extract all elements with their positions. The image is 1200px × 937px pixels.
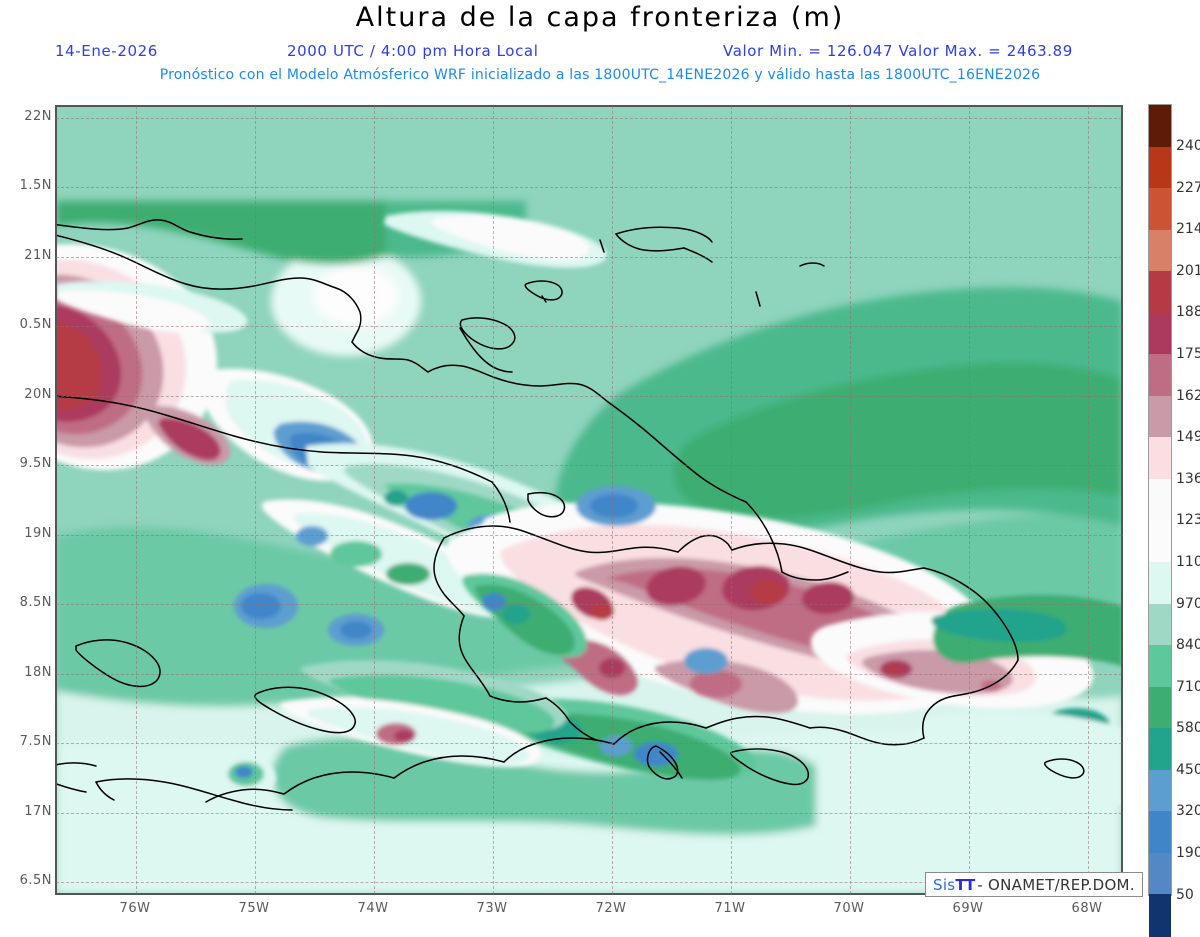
colorbar-tick-label: 970 bbox=[1176, 596, 1200, 612]
colorbar-segment bbox=[1149, 105, 1171, 147]
x-tick-label: 75W bbox=[239, 901, 270, 916]
colorbar-segment bbox=[1149, 853, 1171, 895]
y-tick-label: 20N bbox=[0, 387, 52, 402]
colorbar-tick-label: 1230 bbox=[1176, 512, 1200, 528]
x-tick-label: 70W bbox=[834, 901, 865, 916]
y-tick-label: 0.5N bbox=[0, 317, 52, 332]
forecast-time: 2000 UTC / 4:00 pm Hora Local bbox=[287, 42, 538, 60]
colorbar-tick-label: 840 bbox=[1176, 637, 1200, 653]
colorbar-segment bbox=[1149, 645, 1171, 687]
y-tick-label: 18N bbox=[0, 665, 52, 680]
colorbar-segment bbox=[1149, 728, 1171, 770]
map-plot-area[interactable] bbox=[55, 105, 1123, 895]
colorbar-segment bbox=[1149, 520, 1171, 562]
agency-name: - ONAMET/REP.DOM. bbox=[977, 876, 1135, 894]
colorbar-segment bbox=[1149, 437, 1171, 479]
y-tick-label: 6.5N bbox=[0, 873, 52, 888]
colorbar-segment bbox=[1149, 271, 1171, 313]
colorbar-segment bbox=[1149, 687, 1171, 729]
colorbar-tick-label: 2400 bbox=[1176, 138, 1200, 154]
colorbar-tick-label: 2010 bbox=[1176, 263, 1200, 279]
colorbar-segment bbox=[1149, 479, 1171, 521]
y-tick-label: 21N bbox=[0, 248, 52, 263]
colorbar-segment bbox=[1149, 354, 1171, 396]
y-tick-label: 19N bbox=[0, 526, 52, 541]
forecast-date: 14-Ene-2026 bbox=[55, 42, 158, 60]
x-tick-label: 72W bbox=[596, 901, 627, 916]
y-tick-label: 7.5N bbox=[0, 734, 52, 749]
value-minmax: Valor Min. = 126.047 Valor Max. = 2463.8… bbox=[723, 42, 1073, 60]
colorbar-tick-label: 1620 bbox=[1176, 388, 1200, 404]
colorbar-tick-label: 1750 bbox=[1176, 346, 1200, 362]
model-description: Pronóstico con el Modelo Atmósferico WRF… bbox=[0, 67, 1200, 83]
y-tick-label: 8.5N bbox=[0, 595, 52, 610]
colorbar[interactable] bbox=[1148, 104, 1172, 896]
colorbar-tick-label: 1880 bbox=[1176, 304, 1200, 320]
brand-symbol-icon: TT bbox=[955, 876, 974, 894]
colorbar-tick-label: 710 bbox=[1176, 679, 1200, 695]
page-title: Altura de la capa fronteriza (m) bbox=[0, 2, 1200, 33]
colorbar-tick-label: 1100 bbox=[1176, 554, 1200, 570]
y-tick-label: 1.5N bbox=[0, 178, 52, 193]
x-tick-label: 71W bbox=[715, 901, 746, 916]
colorbar-segment bbox=[1149, 147, 1171, 189]
colorbar-tick-label: 450 bbox=[1176, 762, 1200, 778]
colorbar-segment bbox=[1149, 396, 1171, 438]
colorbar-segment bbox=[1149, 562, 1171, 604]
header-subline: 14-Ene-2026 2000 UTC / 4:00 pm Hora Loca… bbox=[0, 42, 1200, 62]
colorbar-tick-label: 190 bbox=[1176, 845, 1200, 861]
colorbar-tick-label: 1360 bbox=[1176, 471, 1200, 487]
attribution-badge: SisTT - ONAMET/REP.DOM. bbox=[925, 872, 1143, 897]
y-tick-label: 9.5N bbox=[0, 456, 52, 471]
colorbar-segment bbox=[1149, 230, 1171, 272]
colorbar-tick-label: 1490 bbox=[1176, 429, 1200, 445]
x-tick-label: 69W bbox=[953, 901, 984, 916]
colorbar-segment bbox=[1149, 894, 1171, 937]
colorbar-segment bbox=[1149, 770, 1171, 812]
colorbar-segment bbox=[1149, 313, 1171, 355]
contour-field bbox=[56, 106, 1122, 894]
brand-name: Sis bbox=[933, 876, 955, 894]
colorbar-tick-label: 50 bbox=[1176, 887, 1194, 903]
x-tick-label: 74W bbox=[358, 901, 389, 916]
colorbar-tick-label: 2270 bbox=[1176, 180, 1200, 196]
colorbar-segment bbox=[1149, 604, 1171, 646]
x-tick-label: 76W bbox=[120, 901, 151, 916]
x-tick-label: 73W bbox=[477, 901, 508, 916]
colorbar-tick-label: 580 bbox=[1176, 720, 1200, 736]
colorbar-tick-label: 320 bbox=[1176, 803, 1200, 819]
y-tick-label: 22N bbox=[0, 109, 52, 124]
colorbar-segment bbox=[1149, 188, 1171, 230]
colorbar-segment bbox=[1149, 811, 1171, 853]
x-tick-label: 68W bbox=[1072, 901, 1103, 916]
colorbar-tick-label: 2140 bbox=[1176, 221, 1200, 237]
y-tick-label: 17N bbox=[0, 804, 52, 819]
